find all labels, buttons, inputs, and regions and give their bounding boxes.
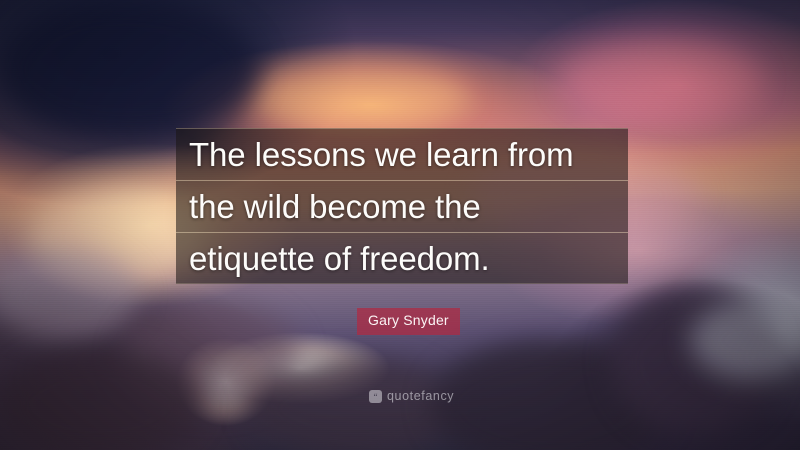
quote-line: The lessons we learn from (176, 128, 628, 180)
quotefancy-watermark: “ quotefancy (369, 390, 454, 403)
quote-line: etiquette of freedom. (176, 232, 628, 284)
quote-line-text: the wild become the (189, 190, 481, 223)
quote-line-text: etiquette of freedom. (189, 242, 490, 275)
quote-line-text: The lessons we learn from (189, 138, 574, 171)
quote-mark-glyph: “ (374, 393, 378, 402)
author-badge: Gary Snyder (357, 308, 460, 335)
quote-card: The lessons we learn from the wild becom… (0, 0, 800, 450)
quote-text-block: The lessons we learn from the wild becom… (176, 128, 628, 284)
quote-line: the wild become the (176, 180, 628, 232)
quote-mark-logo-icon: “ (369, 390, 382, 403)
watermark-brand-text: quotefancy (387, 390, 454, 403)
author-name: Gary Snyder (368, 312, 449, 328)
